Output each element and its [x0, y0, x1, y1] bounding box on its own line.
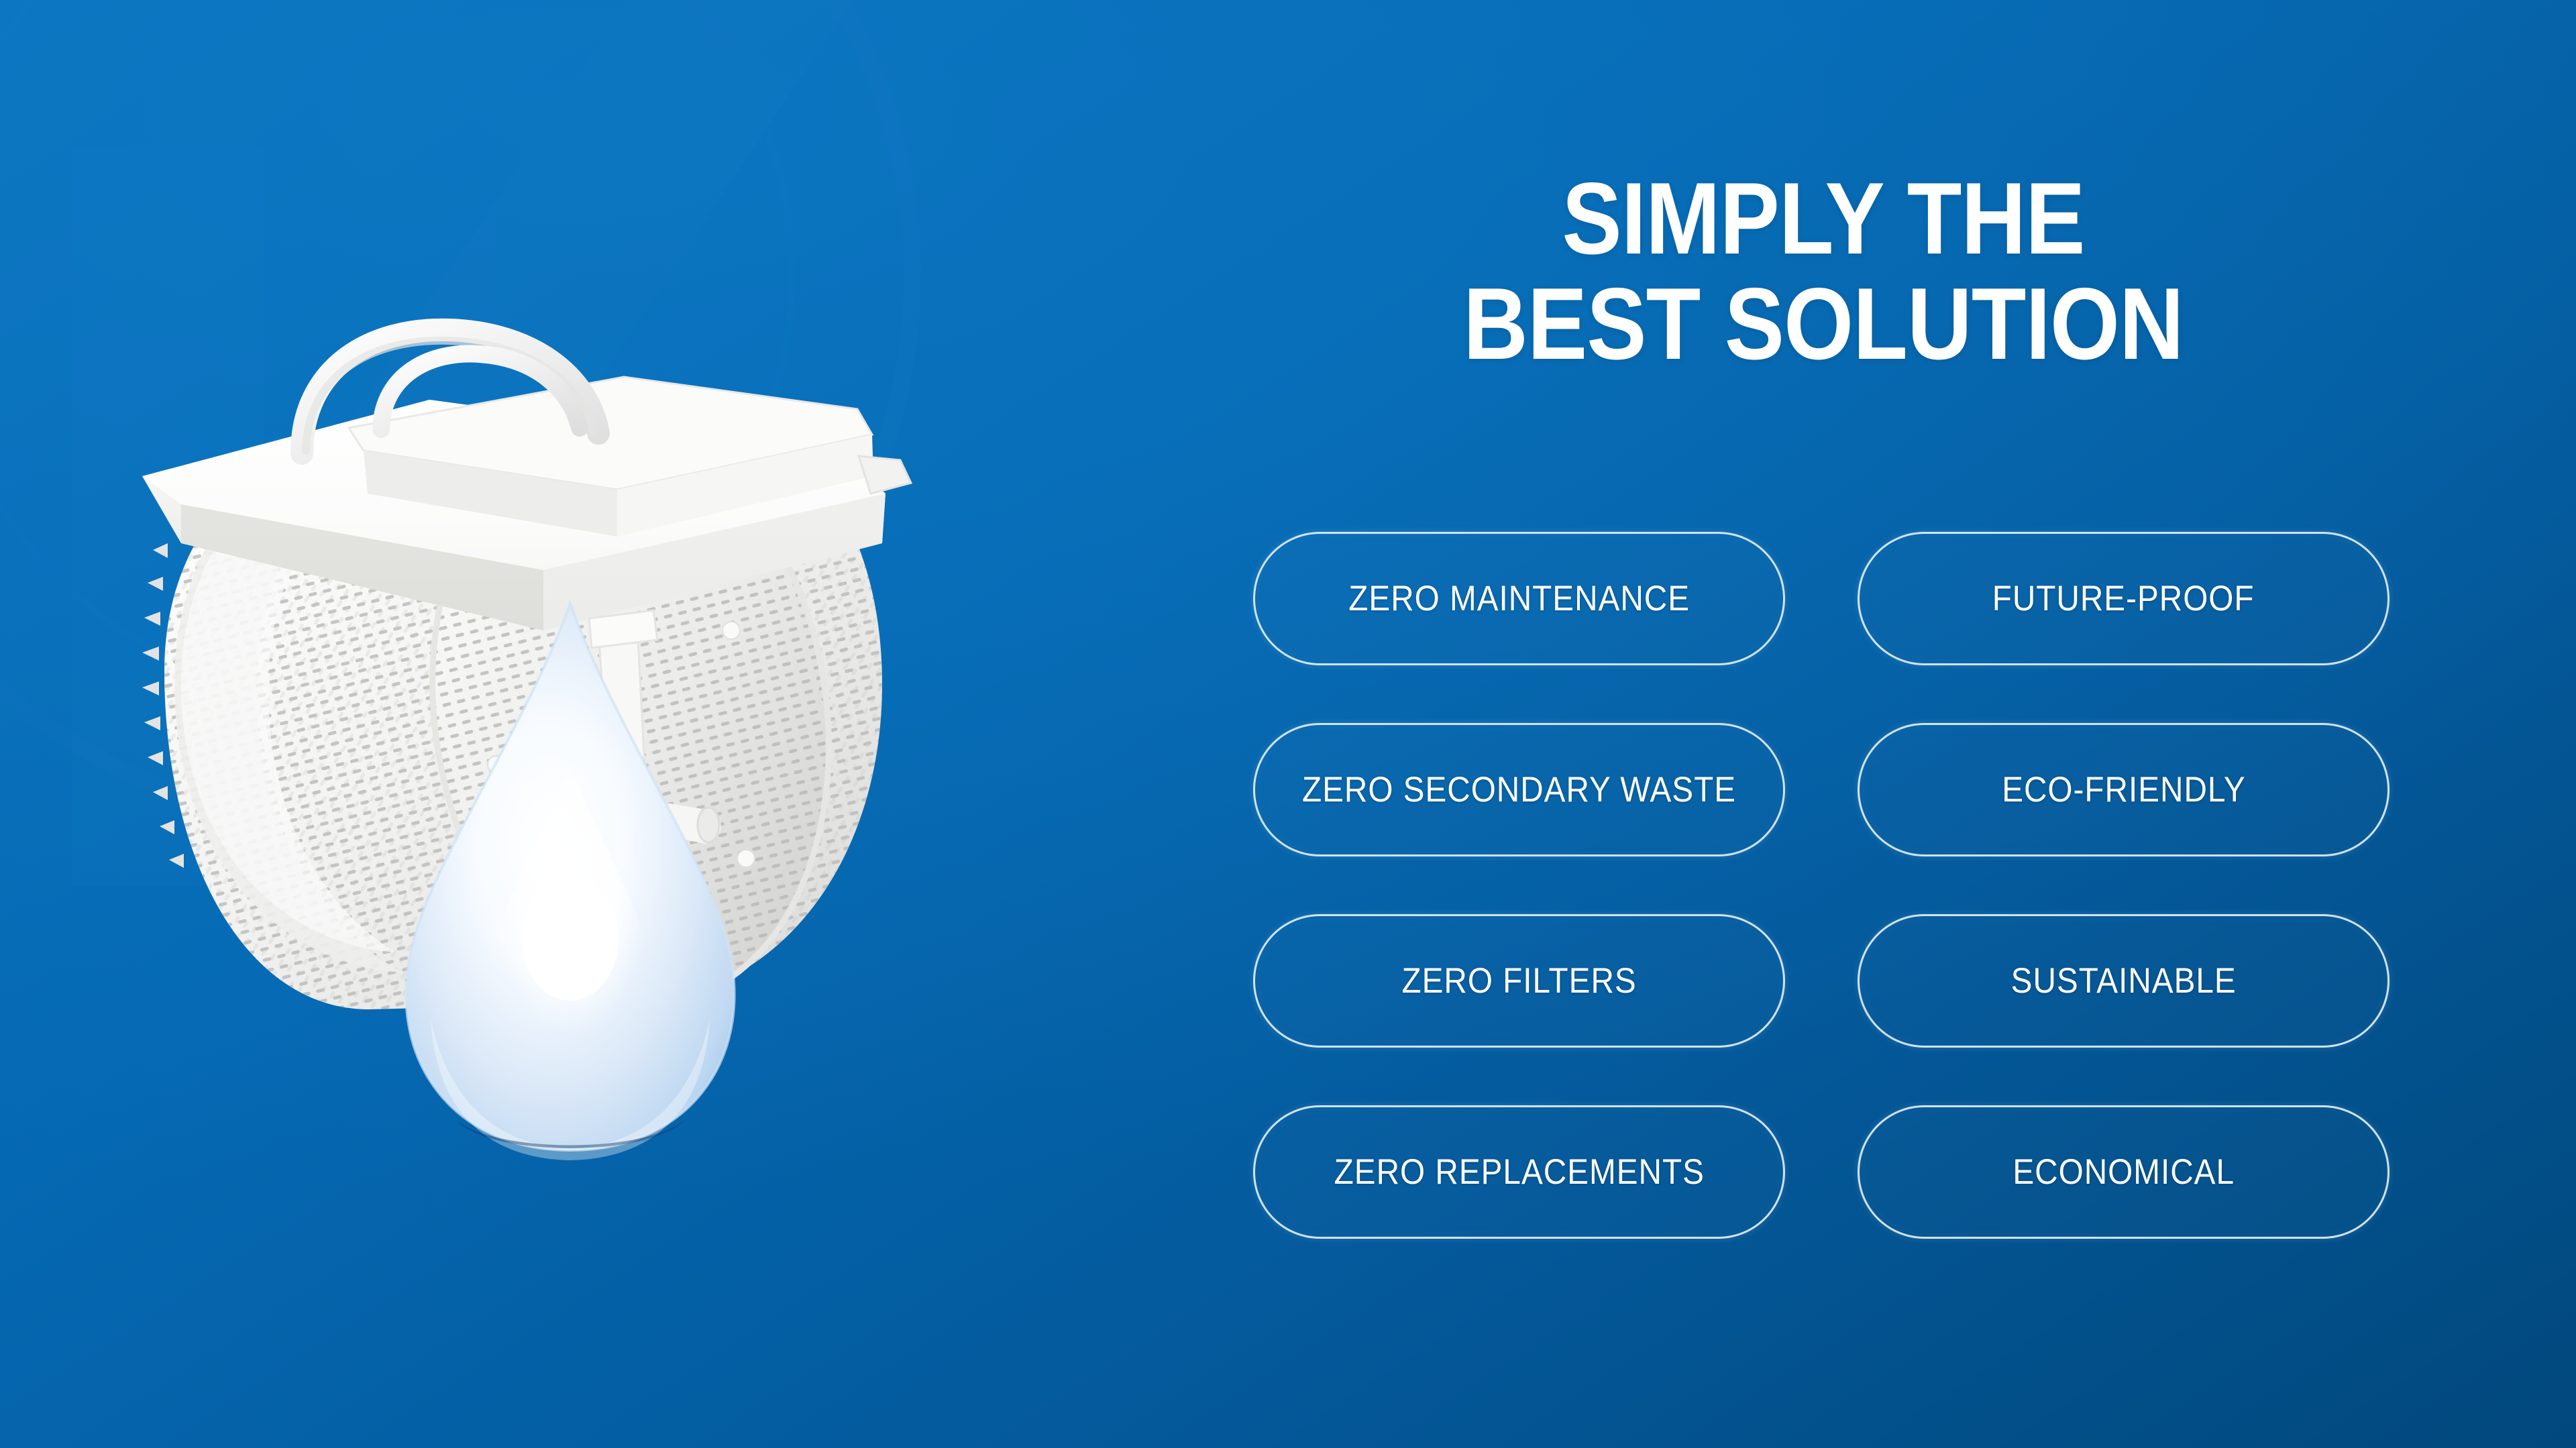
benefit-pill-zero-filters[interactable]: ZERO FILTERS — [1253, 914, 1785, 1048]
benefit-label: SUSTAINABLE — [2010, 960, 2236, 1001]
benefit-label: ECO-FRIENDLY — [2002, 769, 2245, 810]
brand-watermark-k-icon — [0, 0, 966, 972]
benefit-pill-zero-maintenance[interactable]: ZERO MAINTENANCE — [1253, 532, 1785, 665]
page-title: SIMPLY THE BEST SOLUTION — [1322, 166, 2325, 376]
benefit-label: ZERO FILTERS — [1401, 960, 1636, 1001]
benefit-pill-sustainable[interactable]: SUSTAINABLE — [1858, 914, 2390, 1048]
benefit-label: ECONOMICAL — [2012, 1152, 2235, 1192]
benefit-label: ZERO SECONDARY WASTE — [1302, 769, 1736, 810]
benefit-pill-future-proof[interactable]: FUTURE-PROOF — [1858, 532, 2390, 665]
hero-product-image — [101, 255, 1053, 1227]
benefit-label: ZERO MAINTENANCE — [1348, 578, 1690, 619]
benefit-pill-zero-replacements[interactable]: ZERO REPLACEMENTS — [1253, 1105, 1785, 1239]
benefits-grid: ZERO MAINTENANCE FUTURE-PROOF ZERO SECON… — [1253, 532, 2390, 1239]
benefit-pill-zero-secondary-waste[interactable]: ZERO SECONDARY WASTE — [1253, 723, 1785, 856]
benefit-pill-economical[interactable]: ECONOMICAL — [1858, 1105, 2390, 1239]
slide-canvas: SIMPLY THE BEST SOLUTION ZERO MAINTENANC… — [0, 0, 2576, 1448]
water-droplet-shape — [406, 604, 734, 1160]
content-panel: SIMPLY THE BEST SOLUTION ZERO MAINTENANC… — [1253, 0, 2394, 1448]
benefit-label: FUTURE-PROOF — [1992, 578, 2255, 619]
benefit-pill-eco-friendly[interactable]: ECO-FRIENDLY — [1858, 723, 2390, 856]
benefit-label: ZERO REPLACEMENTS — [1334, 1152, 1704, 1192]
